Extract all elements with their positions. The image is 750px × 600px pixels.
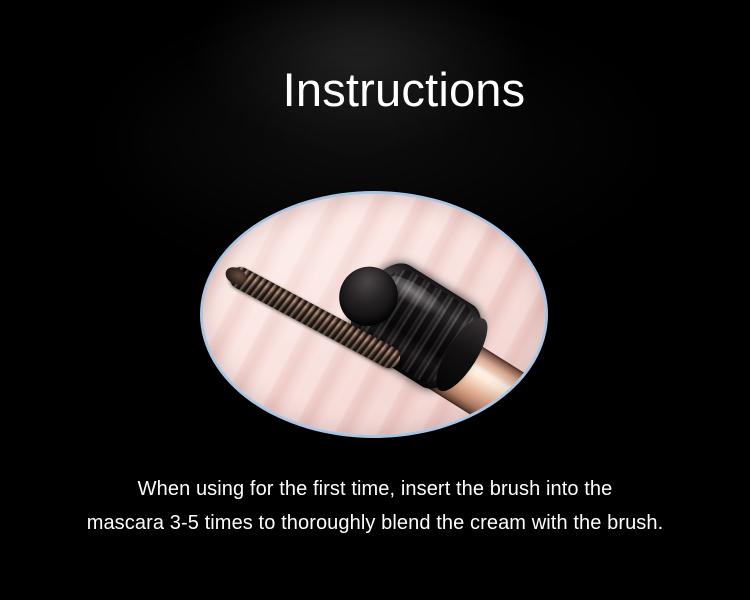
product-photo-oval-frame [200,191,548,438]
page-title: Instructions [0,62,750,118]
product-photo [203,194,545,435]
caption-line-2: mascara 3-5 times to thoroughly blend th… [0,506,750,540]
caption-line-1: When using for the first time, insert th… [0,472,750,506]
instructions-panel: Instructions When using for the first [0,0,750,600]
instruction-caption: When using for the first time, insert th… [0,472,750,540]
